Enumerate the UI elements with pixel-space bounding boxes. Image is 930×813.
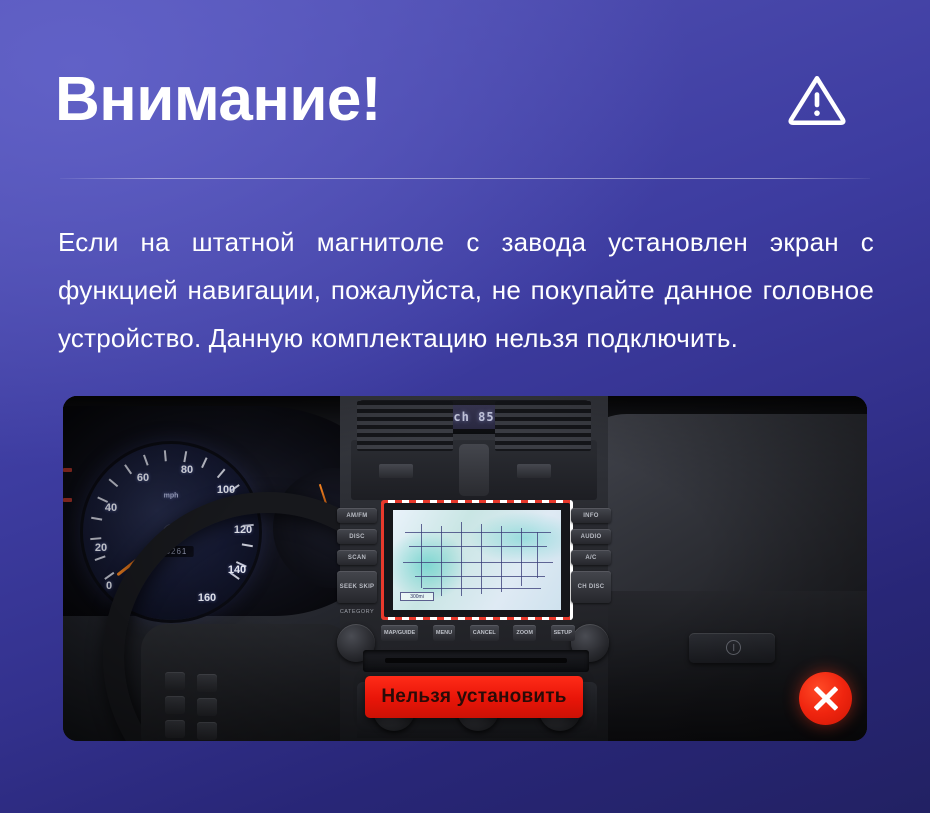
vent-knob-right[interactable] bbox=[517, 464, 551, 478]
button-scan[interactable]: SCAN bbox=[337, 550, 377, 565]
button-cancel[interactable]: CANCEL bbox=[470, 625, 499, 641]
head-unit-right-buttons: INFO AUDIO A/C CH DISC bbox=[571, 508, 611, 609]
button-category-label: CATEGORY bbox=[337, 609, 377, 615]
gauge-tick-40: 40 bbox=[105, 502, 117, 514]
button-ac[interactable]: A/C bbox=[571, 550, 611, 565]
factory-navigation-screen[interactable]: 300mi bbox=[393, 510, 561, 610]
vent-slats-left bbox=[357, 401, 453, 451]
vent-slats-right bbox=[495, 401, 591, 451]
warning-body-text-value: Если на штатной магнитоле с завода устан… bbox=[58, 227, 874, 353]
gauge-tick-100: 100 bbox=[217, 484, 235, 496]
cannot-install-button[interactable]: Нельзя установить bbox=[365, 676, 583, 718]
button-info[interactable]: INFO bbox=[571, 508, 611, 523]
head-unit-left-buttons: AM/FM DISC SCAN SEEK SKIP CATEGORY bbox=[337, 508, 377, 615]
gauge-unit-label: mph bbox=[164, 493, 179, 500]
warning-telltale-left-2 bbox=[63, 498, 72, 502]
wheel-button-5 bbox=[197, 698, 217, 716]
warning-telltale-left bbox=[63, 468, 72, 472]
vent-knob-left[interactable] bbox=[379, 464, 413, 478]
nav-control-buttons: MAP/GUIDE MENU CANCEL ZOOM SETUP bbox=[381, 624, 575, 642]
wheel-button-6 bbox=[197, 722, 217, 740]
x-circle-icon bbox=[799, 672, 852, 725]
page-title: Внимание! bbox=[55, 69, 381, 131]
gauge-tick-20: 20 bbox=[95, 542, 107, 554]
header-divider bbox=[60, 178, 870, 179]
glovebox-lock-icon bbox=[726, 640, 741, 655]
nav-scale-bar: 300mi bbox=[400, 592, 434, 601]
button-audio[interactable]: AUDIO bbox=[571, 529, 611, 544]
button-setup[interactable]: SETUP bbox=[551, 625, 575, 641]
wheel-button-1 bbox=[165, 672, 185, 690]
wheel-button-3 bbox=[165, 720, 185, 738]
warning-triangle-icon bbox=[786, 69, 848, 131]
wheel-button-2 bbox=[165, 696, 185, 714]
button-map-guide[interactable]: MAP/GUIDE bbox=[381, 625, 418, 641]
disc-slot-opening bbox=[385, 658, 567, 663]
wheel-button-4 bbox=[197, 674, 217, 692]
page-header: Внимание! bbox=[55, 52, 890, 147]
warning-body-text: Если на штатной магнитоле с завода устан… bbox=[58, 218, 874, 362]
button-zoom[interactable]: ZOOM bbox=[513, 625, 536, 641]
button-seek-skip[interactable]: SEEK SKIP bbox=[337, 571, 377, 603]
warning-notice-page: Внимание! Если на штатной магнитоле с за… bbox=[0, 0, 930, 813]
gauge-tick-0: 0 bbox=[106, 580, 112, 592]
button-am-fm[interactable]: AM/FM bbox=[337, 508, 377, 523]
button-disc[interactable]: DISC bbox=[337, 529, 377, 544]
hazard-button[interactable] bbox=[459, 444, 489, 496]
button-menu[interactable]: MENU bbox=[433, 625, 455, 641]
gauge-tick-80: 80 bbox=[181, 464, 193, 476]
steering-wheel-hub bbox=[141, 624, 351, 741]
disc-slot[interactable] bbox=[363, 650, 589, 672]
button-ch-disc[interactable]: CH DISC bbox=[571, 571, 611, 603]
gauge-tick-60: 60 bbox=[137, 472, 149, 484]
lcd-channel: ch 85 bbox=[453, 410, 494, 424]
